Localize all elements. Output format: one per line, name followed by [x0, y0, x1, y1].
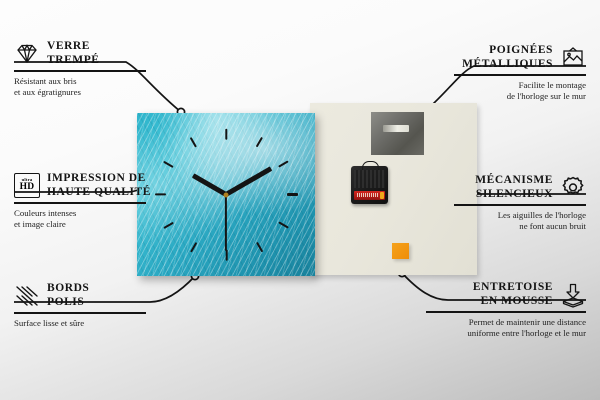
metal-hanger-plate: [371, 112, 424, 155]
callout-title: POIGNÉES: [462, 44, 553, 58]
callout-description: Résistant aux bris et aux égratignures: [14, 76, 146, 98]
divider: [14, 312, 146, 314]
diamond-icon: [14, 41, 40, 67]
clock-tick: [278, 160, 289, 168]
callout-description: Permet de maintenir une distance uniform…: [426, 317, 586, 339]
mechanism-face: [354, 170, 385, 188]
battery-label: [357, 193, 379, 197]
foam-spacer: [392, 243, 409, 259]
callout-description: Couleurs intenses et image claire: [14, 208, 146, 230]
clock-tick: [255, 242, 263, 253]
divider: [14, 70, 146, 72]
callout-description: Les aiguilles de l'horloge ne font aucun…: [454, 210, 586, 232]
divider: [454, 74, 586, 76]
callout-title: ENTRETOISE: [473, 281, 553, 295]
callout-description: Surface lisse et sûre: [14, 318, 146, 329]
clock-mechanism: [351, 166, 388, 204]
callout-title-2: TREMPÉ: [47, 54, 100, 68]
callout-title: BORDS: [47, 282, 89, 296]
clock-hand-hour: [192, 173, 227, 196]
callout-title: IMPRESSION DE: [47, 172, 151, 186]
infographic-stage: VERRE TREMPÉ Résistant aux bris et aux é…: [0, 0, 600, 400]
clock-back-panel: [310, 103, 477, 275]
divider: [454, 204, 586, 206]
clock-center-cap: [224, 192, 229, 197]
callout-title-2: EN MOUSSE: [473, 295, 553, 309]
callout-bords-polis: BORDS POLIS Surface lisse et sûre: [14, 282, 146, 329]
callout-mecanisme-silencieux: MÉCANISME SILENCIEUX Les aiguilles de l'…: [454, 174, 586, 232]
clock-hand-second: [225, 194, 227, 250]
clock-tick: [189, 242, 197, 253]
callout-title-2: SILENCIEUX: [475, 188, 553, 202]
polished-edges-icon: [14, 283, 40, 309]
wall-frame-hanger-icon: [560, 45, 586, 71]
clock-tick: [225, 250, 227, 261]
clock-tick: [189, 137, 197, 148]
hanger-slot: [383, 125, 409, 132]
clock-face: [137, 113, 315, 276]
callout-verre-trempe: VERRE TREMPÉ Résistant aux bris et aux é…: [14, 40, 146, 98]
callout-title-2: HAUTE QUALITÉ: [47, 186, 151, 200]
callout-title: VERRE: [47, 40, 100, 54]
battery-terminal: [380, 192, 384, 199]
battery: [354, 191, 385, 200]
mechanism-hook: [362, 161, 379, 170]
callout-title-2: MÉTALLIQUES: [462, 58, 553, 72]
clock-tick: [163, 221, 174, 229]
clock-tick: [225, 128, 227, 139]
divider: [426, 311, 586, 313]
gear-icon: [560, 175, 586, 201]
clock-hand-minute: [225, 166, 273, 196]
callout-impression-haute-qualite: ultraHD IMPRESSION DE HAUTE QUALITÉ Coul…: [14, 172, 146, 230]
callout-entretoise-en-mousse: ENTRETOISE EN MOUSSE Permet de maintenir…: [426, 281, 586, 339]
clock-tick: [255, 137, 263, 148]
foam-spacer-arrow-icon: [560, 282, 586, 308]
clock-tick: [287, 193, 298, 195]
ultra-hd-badge-icon: ultraHD: [14, 173, 40, 198]
product-illustration: [137, 103, 477, 279]
callout-description: Facilite le montage de l'horloge sur le …: [454, 80, 586, 102]
callout-poignees-metalliques: POIGNÉES MÉTALLIQUES Facilite le montage…: [454, 44, 586, 102]
clock-tick: [155, 193, 166, 195]
divider: [14, 202, 146, 204]
clock-tick: [278, 221, 289, 229]
callout-title-2: POLIS: [47, 296, 89, 310]
clock-tick: [163, 160, 174, 168]
callout-title: MÉCANISME: [475, 174, 553, 188]
